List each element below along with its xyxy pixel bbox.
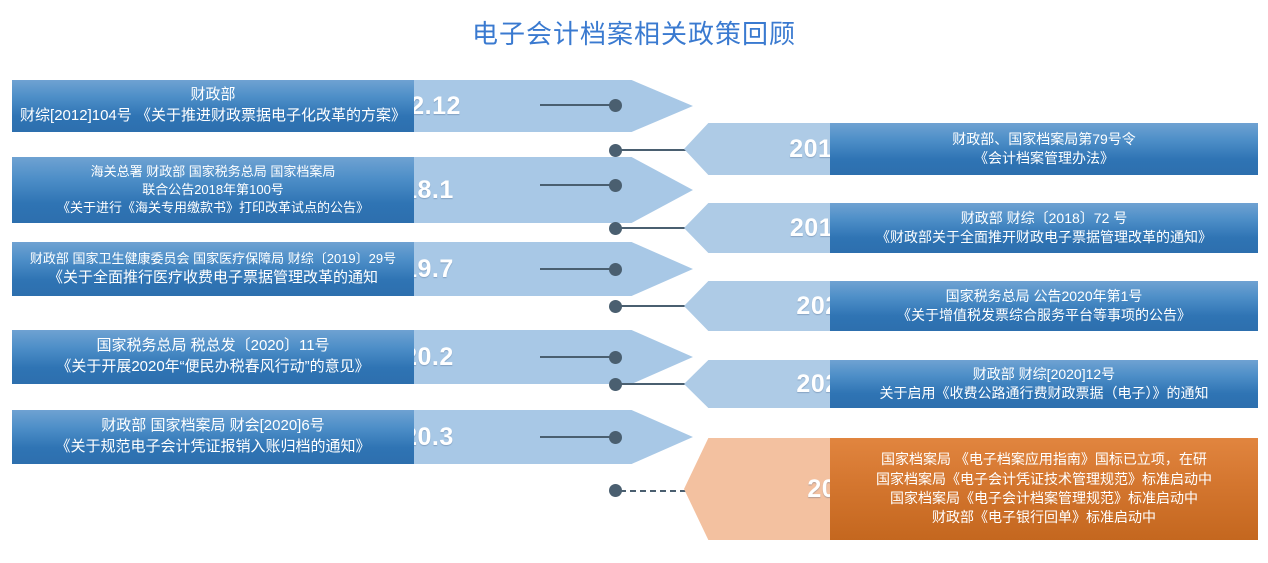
panel-line: 关于启用《收费公路通行费财政票据（电子）》的通知 (880, 384, 1209, 403)
panel-line: 《会计档案管理办法》 (974, 149, 1114, 168)
connector-dot-left-0 (609, 99, 622, 112)
panel-line: 财政部 国家档案局 财会[2020]6号 (101, 416, 324, 437)
panel-line: 财政部 (190, 85, 235, 106)
right-event-panel-0: 财政部、国家档案局第79号令 《会计档案管理办法》 (830, 123, 1258, 175)
right-event-panel-2: 国家税务总局 公告2020年第1号 《关于增值税发票综合服务平台等事项的公告》 (830, 281, 1258, 331)
connector-line-left-1 (540, 184, 618, 186)
left-event-date-0: 2012.12 (414, 80, 693, 132)
panel-line: 联合公告2018年第100号 (142, 181, 284, 199)
connector-line-left-2 (540, 268, 618, 270)
left-event-panel-1: 海关总署 财政部 国家税务总局 国家档案局 联合公告2018年第100号 《关于… (12, 157, 414, 223)
panel-line: 财政部 财综〔2018〕72 号 (961, 209, 1128, 228)
panel-line: 财政部 国家卫生健康委员会 国家医疗保障局 财综〔2019〕29号 (30, 250, 396, 268)
left-event-panel-2: 财政部 国家卫生健康委员会 国家医疗保障局 财综〔2019〕29号 《关于全面推… (12, 242, 414, 296)
left-event-panel-3: 国家税务总局 税总发〔2020〕11号 《关于开展2020年“便民办税春风行动”… (12, 330, 414, 384)
panel-line: 《关于规范电子会计凭证报销入账归档的通知》 (55, 437, 370, 458)
panel-line: 国家档案局 《电子档案应用指南》国标已立项，在研 (881, 450, 1207, 469)
connector-dot-left-4 (609, 431, 622, 444)
panel-line: 海关总署 财政部 国家税务总局 国家档案局 (91, 163, 336, 181)
connector-dot-left-3 (609, 351, 622, 364)
panel-line: 《关于增值税发票综合服务平台等事项的公告》 (897, 306, 1191, 325)
panel-line: 《关于全面推行医疗收费电子票据管理改革的通知 (48, 268, 378, 289)
panel-line: 《关于进行《海关专用缴款书》打印改革试点的公告》 (57, 199, 369, 217)
right-event-date-3: 2020.4 (684, 360, 836, 408)
panel-line: 财政部、国家档案局第79号令 (952, 130, 1136, 149)
panel-line: 国家档案局《电子会计凭证技术管理规范》标准启动中 (876, 470, 1212, 489)
panel-line: 《财政部关于全面推开财政电子票据管理改革的通知》 (876, 228, 1212, 247)
left-event-panel-4: 财政部 国家档案局 财会[2020]6号 《关于规范电子会计凭证报销入账归档的通… (12, 410, 414, 464)
right-event-date-0: 2015.12 (684, 123, 836, 175)
right-event-date-2: 2020.1 (684, 281, 836, 331)
connector-line-right-4 (620, 490, 696, 492)
panel-line: 国家税务总局 税总发〔2020〕11号 (96, 336, 329, 357)
panel-line: 《关于开展2020年“便民办税春风行动”的意见》 (56, 357, 369, 378)
panel-line: 国家税务总局 公告2020年第1号 (946, 287, 1143, 306)
connector-dot-left-1 (609, 179, 622, 192)
right-event-date-4: 2020 (684, 438, 836, 540)
right-event-panel-1: 财政部 财综〔2018〕72 号 《财政部关于全面推开财政电子票据管理改革的通知… (830, 203, 1258, 253)
right-event-panel-3: 财政部 财综[2020]12号 关于启用《收费公路通行费财政票据（电子）》的通知 (830, 360, 1258, 408)
right-event-date-1: 2018.11 (684, 203, 836, 253)
left-event-panel-0: 财政部 财综[2012]104号 《关于推进财政票据电子化改革的方案》 (12, 80, 414, 132)
left-event-date-1: 2018.1 (414, 157, 693, 223)
panel-line: 财政部《电子银行回单》标准启动中 (932, 508, 1156, 527)
connector-line-left-4 (540, 436, 618, 438)
connector-dot-left-2 (609, 263, 622, 276)
panel-line: 财综[2012]104号 《关于推进财政票据电子化改革的方案》 (20, 106, 406, 127)
infographic-canvas: 电子会计档案相关政策回顾 财政部 财综[2012]104号 《关于推进财政票据电… (0, 0, 1268, 563)
page-title: 电子会计档案相关政策回顾 (0, 14, 1268, 51)
connector-line-left-0 (540, 104, 618, 106)
panel-line: 国家档案局《电子会计档案管理规范》标准启动中 (890, 489, 1198, 508)
connector-line-left-3 (540, 356, 618, 358)
right-event-panel-4: 国家档案局 《电子档案应用指南》国标已立项，在研 国家档案局《电子会计凭证技术管… (830, 438, 1258, 540)
panel-line: 财政部 财综[2020]12号 (973, 365, 1115, 384)
